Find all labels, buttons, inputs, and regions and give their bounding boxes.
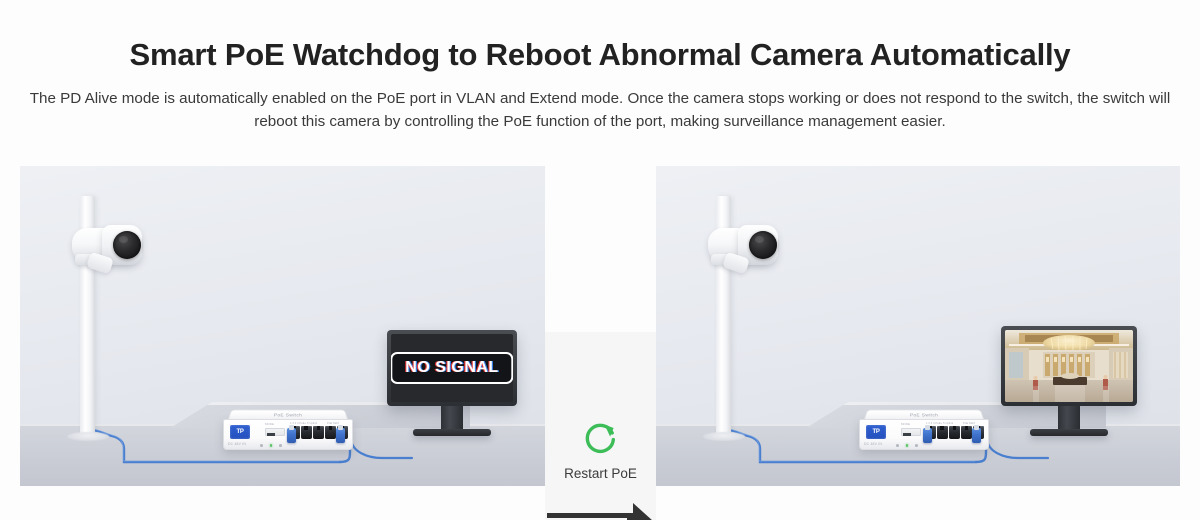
switch-port-3[interactable] [949,426,960,439]
switch-ports-label: 1 2 3 4 PoE+ 5 Uplink [926,421,953,425]
right-security-camera [708,228,786,262]
left-pole-base [67,432,109,441]
page-title: Smart PoE Watchdog to Reboot Abnormal Ca… [0,36,1200,75]
switch-led-group [896,444,918,447]
double-line-right-arrow-icon [537,497,661,520]
monitor-neck [1058,406,1080,430]
right-panel-after: PoE Switch TP DC 48V IN MODE 1 2 3 4 PoE… [656,166,1180,486]
no-signal-badge: NO SIGNAL [391,352,513,384]
switch-plug-port1 [923,428,932,443]
restart-poe-label: Restart PoE [545,466,656,481]
switch-port-2[interactable] [301,426,312,439]
camera-lens-icon [749,231,777,259]
restart-circular-arrow-icon [582,420,620,458]
switch-top-brand: PoE Switch [274,413,303,418]
camera-lens-icon [113,231,141,259]
left-security-camera [72,228,150,262]
switch-brand-badge: TP [230,425,250,439]
monitor-neck [441,406,463,430]
header: Smart PoE Watchdog to Reboot Abnormal Ca… [0,0,1200,133]
monitor-screen: NO SIGNAL [391,334,513,402]
switch-port-4[interactable] [961,426,972,439]
switch-power-label: DC 48V IN [864,442,882,446]
monitor-base [413,429,491,436]
right-pole-base [703,432,745,441]
no-signal-text: NO SIGNAL [405,359,498,377]
switch-plug-port5 [336,428,345,443]
switch-led-group [260,444,282,447]
right-monitor [1001,326,1137,438]
switch-led-link [915,444,918,447]
switch-led-link [279,444,282,447]
switch-ports-label: 1 2 3 4 PoE+ 5 Uplink [290,421,317,425]
switch-led-status [906,444,909,447]
switch-dip-switch[interactable] [901,428,921,436]
monitor-frame: NO SIGNAL [387,330,517,406]
left-monitor: NO SIGNAL [387,330,517,440]
switch-led-power [896,444,899,447]
switch-port-3[interactable] [313,426,324,439]
switch-dip-switch[interactable] [265,428,285,436]
page-root: Smart PoE Watchdog to Reboot Abnormal Ca… [0,0,1200,520]
switch-top-brand: PoE Switch [910,413,939,418]
live-video-hotel-lobby-icon [1005,330,1133,402]
switch-dip-label: MODE [265,422,274,426]
switch-led-power [260,444,263,447]
page-subtitle-wrap: The PD Alive mode is automatically enabl… [15,87,1185,133]
monitor-screen [1005,330,1133,402]
left-poe-switch: PoE Switch TP DC 48V IN MODE 1 2 3 4 PoE… [223,406,353,450]
switch-brand-text: TP [872,429,879,435]
right-poe-switch: PoE Switch TP DC 48V IN MODE 1 2 3 4 PoE… [859,406,989,450]
comparison-panels: PoE Switch TP DC 48V IN MODE 1 2 3 4 PoE… [0,166,1200,486]
switch-brand-badge: TP [866,425,886,439]
page-subtitle: The PD Alive mode is automatically enabl… [15,87,1185,133]
switch-dip-label: MODE [901,422,910,426]
monitor-base [1030,429,1108,436]
switch-brand-text: TP [236,429,243,435]
switch-power-label: DC 48V IN [228,442,246,446]
switch-plug-port1 [287,428,296,443]
switch-port-4[interactable] [325,426,336,439]
center-transition-column: Restart PoE [545,332,656,520]
switch-plug-port5 [972,428,981,443]
left-panel-before: PoE Switch TP DC 48V IN MODE 1 2 3 4 PoE… [20,166,545,486]
switch-port-2[interactable] [937,426,948,439]
switch-led-status [270,444,273,447]
monitor-frame [1001,326,1137,406]
